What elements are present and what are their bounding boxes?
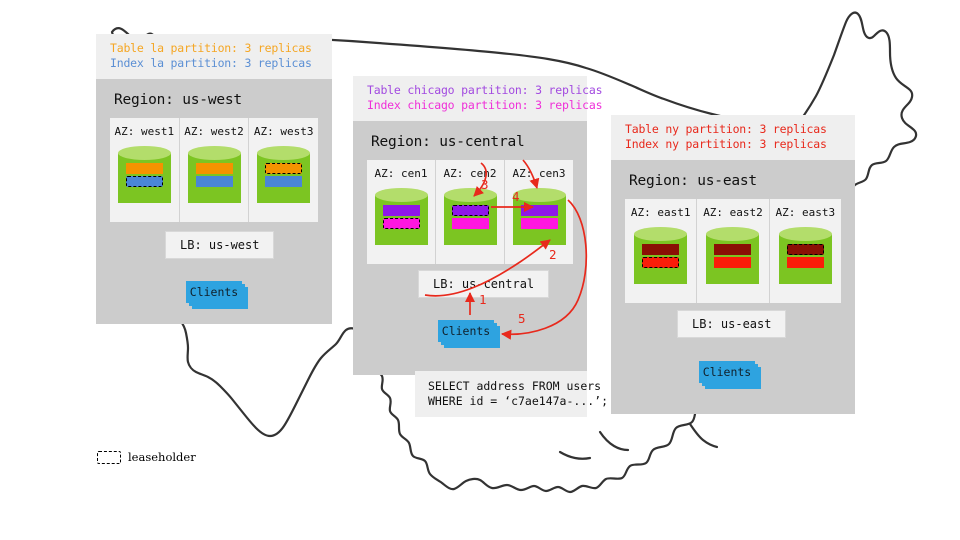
node-cylinder-cen2[interactable] [444,188,497,252]
region-title-us-east: Region: us-east [611,160,855,199]
partition-info-us-east: Table ny partition: 3 replicas Index ny … [611,115,855,160]
arrow-number-3: 3 [481,177,489,192]
az-label-east2: AZ: east2 [703,206,763,219]
replica-bar-table [642,244,679,255]
sql-line-1: SELECT address FROM users [428,379,574,394]
az-cell-cen3[interactable]: AZ: cen3 [505,160,573,264]
node-cylinder-west1[interactable] [118,146,171,210]
arrow-number-2: 2 [549,247,557,262]
replica-bar-index [521,218,558,229]
replica-bar-index [714,257,751,268]
arrow-number-4: 4 [512,189,520,204]
az-row-us-east: AZ: east1 AZ: east2 [625,199,841,303]
partition-line-table: Table chicago partition: 3 replicas [367,83,573,98]
dashed-box-icon [97,451,121,464]
node-cylinder-east3[interactable] [779,227,832,291]
load-balancer-us-east[interactable]: LB: us-east [677,310,786,338]
load-balancer-us-west[interactable]: LB: us-west [165,231,274,259]
az-cell-cen1[interactable]: AZ: cen1 [367,160,436,264]
replica-bar-index [196,176,233,187]
sql-line-2: WHERE id = ‘c7ae147a-...’; [428,394,574,409]
replica-bar-index [265,176,302,187]
clients-us-central[interactable]: Clients [438,320,498,344]
partition-line-index: Index ny partition: 3 replicas [625,137,841,152]
az-cell-west3[interactable]: AZ: west3 [249,118,318,222]
cylinder-top [779,227,832,241]
sql-query-box: SELECT address FROM users WHERE id = ‘c7… [415,371,587,417]
node-cylinder-cen1[interactable] [375,188,428,252]
partition-line-table: Table ny partition: 3 replicas [625,122,841,137]
az-label-west2: AZ: west2 [184,125,244,138]
az-cell-cen2[interactable]: AZ: cen2 [436,160,505,264]
az-label-east1: AZ: east1 [631,206,691,219]
partition-line-index: Index la partition: 3 replicas [110,56,318,71]
cylinder-top [375,188,428,202]
replica-bar-index [452,218,489,229]
az-label-east3: AZ: east3 [776,206,836,219]
az-cell-west2[interactable]: AZ: west2 [180,118,250,222]
arrow-number-1: 1 [479,292,487,307]
az-row-us-west: AZ: west1 AZ: west2 [110,118,318,222]
diagram-canvas: Table la partition: 3 replicas Index la … [0,0,960,540]
cylinder-top [444,188,497,202]
replica-bar-table [126,163,163,174]
replica-bar-index-leaseholder [126,176,163,187]
partition-line-table: Table la partition: 3 replicas [110,41,318,56]
partition-info-us-central: Table chicago partition: 3 replicas Inde… [353,76,587,121]
partition-line-index: Index chicago partition: 3 replicas [367,98,573,113]
node-cylinder-east1[interactable] [634,227,687,291]
az-cell-east2[interactable]: AZ: east2 [697,199,769,303]
clients-label: Clients [438,320,494,342]
legend-label: leaseholder [128,450,196,464]
az-label-cen1: AZ: cen1 [375,167,428,180]
arrow-number-5: 5 [518,311,526,326]
clients-label: Clients [699,361,755,383]
az-cell-east3[interactable]: AZ: east3 [770,199,841,303]
az-cell-east1[interactable]: AZ: east1 [625,199,697,303]
clients-label: Clients [186,281,242,303]
replica-bar-table [521,205,558,216]
replica-bar-table-leaseholder [452,205,489,216]
clients-us-east[interactable]: Clients [699,361,759,385]
legend: leaseholder [97,450,196,464]
region-title-us-west: Region: us-west [96,79,332,118]
az-label-west3: AZ: west3 [254,125,314,138]
az-cell-west1[interactable]: AZ: west1 [110,118,180,222]
az-label-west1: AZ: west1 [115,125,175,138]
cylinder-top [634,227,687,241]
replica-bar-table-leaseholder [265,163,302,174]
replica-bar-table [714,244,751,255]
node-cylinder-west2[interactable] [188,146,241,210]
replica-bar-table [383,205,420,216]
cylinder-top [257,146,310,160]
cylinder-top [188,146,241,160]
clients-us-west[interactable]: Clients [186,281,246,305]
replica-bar-index-leaseholder [642,257,679,268]
cylinder-top [513,188,566,202]
partition-info-us-west: Table la partition: 3 replicas Index la … [96,34,332,79]
az-label-cen3: AZ: cen3 [513,167,566,180]
replica-bar-table [196,163,233,174]
node-cylinder-cen3[interactable] [513,188,566,252]
node-cylinder-east2[interactable] [706,227,759,291]
cylinder-top [118,146,171,160]
replica-bar-index-leaseholder [383,218,420,229]
replica-bar-index [787,257,824,268]
az-label-cen2: AZ: cen2 [444,167,497,180]
az-row-us-central: AZ: cen1 AZ: cen2 [367,160,573,264]
replica-bar-table-leaseholder [787,244,824,255]
region-title-us-central: Region: us-central [353,121,587,160]
node-cylinder-west3[interactable] [257,146,310,210]
